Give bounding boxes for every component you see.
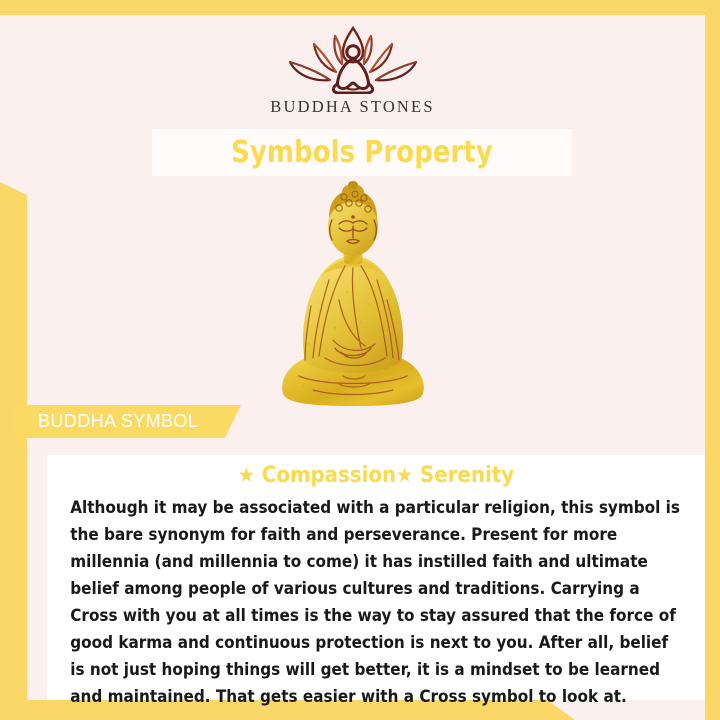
page-title: Symbols Property — [231, 135, 493, 170]
brand-header: BUDDHA STONES — [0, 22, 705, 117]
description-paragraph: Although it may be associated with a par… — [47, 488, 703, 710]
decorative-right-band — [705, 0, 720, 720]
lotus-meditation-icon — [278, 22, 428, 94]
star-icon-second: ★ — [396, 463, 413, 487]
symbol-tag-badge: BUDDHA SYMBOL — [13, 405, 241, 438]
buddha-artwork — [0, 180, 705, 412]
trait-headline: ★ Compassion★ Serenity — [80, 455, 672, 488]
trait-compassion: Compassion — [262, 463, 396, 488]
title-banner: Symbols Property — [152, 129, 572, 176]
poster-root: BUDDHA STONES Symbols Property — [0, 0, 720, 720]
brand-name: BUDDHA STONES — [0, 97, 705, 117]
symbol-tag-label: BUDDHA SYMBOL — [38, 411, 198, 432]
star-icon-first: ★ — [238, 463, 255, 487]
decorative-top-band — [0, 0, 720, 15]
seated-buddha-statue-icon — [269, 180, 437, 412]
trait-serenity: Serenity — [420, 463, 514, 488]
content-panel: ★ Compassion★ Serenity Although it may b… — [47, 455, 705, 700]
